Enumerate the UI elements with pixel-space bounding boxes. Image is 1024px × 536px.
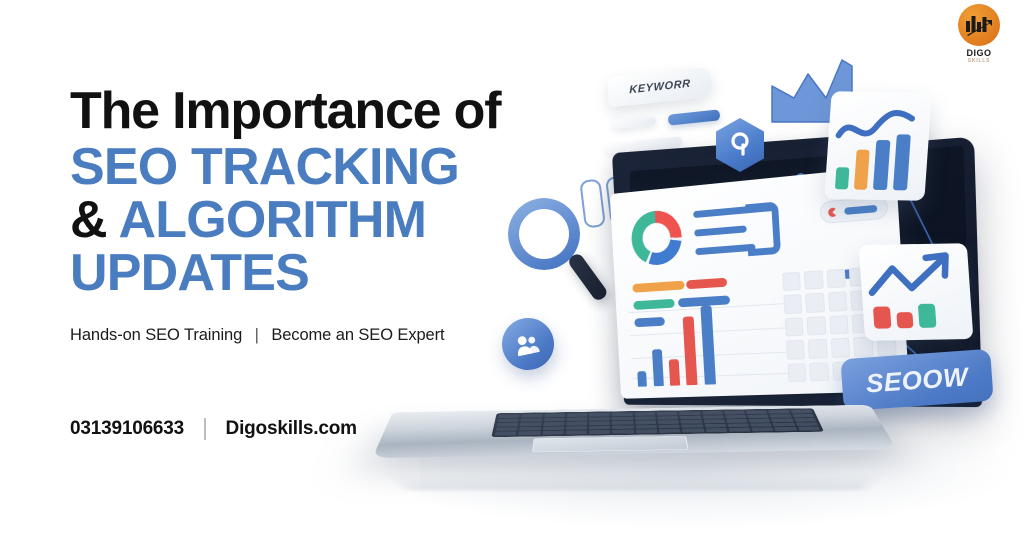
pill-blue-1: [668, 109, 721, 125]
seo-promo-banner: DIGO SKILLS The Importance of SEO TRACKI…: [0, 0, 1024, 536]
keyword-pill[interactable]: KEYWORR: [608, 67, 712, 108]
laptop-keyboard[interactable]: [491, 408, 824, 437]
dashboard-bracket-icon: [745, 201, 781, 256]
chip-bar: [844, 205, 877, 215]
people-glyph-icon: [513, 331, 543, 358]
ampersand: &: [70, 191, 107, 249]
magnifier-ring: [508, 198, 580, 270]
people-group-icon[interactable]: [497, 313, 559, 375]
donut-chart: [630, 209, 683, 267]
subtitle-right: Become an SEO Expert: [271, 326, 444, 344]
keyword-pill-label: KEYWORR: [629, 78, 691, 96]
seoow-text: SEOOW: [865, 361, 969, 399]
seoow-label[interactable]: SEOOW: [840, 349, 993, 411]
search-glyph-icon: [729, 132, 751, 156]
bar-chart-with-line-icon: [824, 91, 932, 200]
contact-divider: [204, 418, 206, 440]
laptop-reflection: [393, 473, 877, 490]
rising-arrow-chart-icon: [859, 243, 974, 341]
illustration-stage: KEYWORR: [430, 0, 1024, 536]
magnifier-handle: [566, 252, 609, 303]
laptop-base: [372, 405, 896, 458]
subtitle-separator: |: [247, 326, 267, 345]
subtitle-left: Hands-on SEO Training: [70, 326, 242, 344]
card-top-chart: [824, 91, 932, 200]
search-badge-icon[interactable]: [716, 118, 764, 172]
chip-dot-icon: [828, 207, 838, 217]
dashboard-bar-chart: [633, 289, 786, 387]
website-link[interactable]: Digoskills.com: [226, 418, 357, 440]
progress-bar-2: [686, 278, 727, 290]
progress-bar-1: [632, 281, 684, 293]
dashboard-text-line-2: [694, 225, 747, 236]
contact-bar: 03139106633 Digoskills.com: [70, 418, 357, 440]
card-bottom-chart: [859, 243, 974, 341]
phone-number[interactable]: 03139106633: [70, 418, 184, 440]
pill-white-1: [612, 116, 657, 130]
laptop-trackpad[interactable]: [532, 436, 689, 453]
dashboard-text-line-3: [695, 244, 755, 256]
magnifying-glass-icon: [508, 198, 604, 308]
headline-line-3-text: ALGORITHM: [118, 191, 426, 249]
